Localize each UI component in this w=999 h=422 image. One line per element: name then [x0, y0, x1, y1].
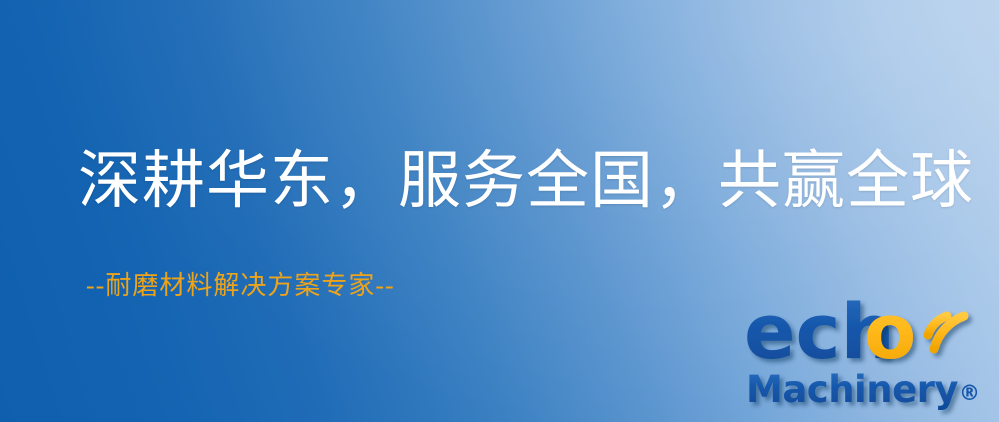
- logo-tagline: Machinery: [746, 368, 958, 411]
- logo-accent-o: o: [864, 292, 916, 376]
- registered-trademark-icon: ®: [959, 381, 980, 405]
- logo-tagline-text: Machinery: [746, 368, 958, 411]
- echo-machinery-logo[interactable]: ech o Machinery ®: [744, 292, 996, 418]
- registered-trademark-text: ®: [959, 381, 980, 405]
- page-subtitle: --耐磨材料解决方案专家--: [86, 265, 395, 302]
- signal-waves-icon: [928, 316, 964, 349]
- hero-banner: 深耕华东，服务全国，共赢全球 --耐磨材料解决方案专家--: [0, 0, 999, 422]
- page-title: 深耕华东，服务全国，共赢全球: [78, 148, 974, 214]
- logo-accent-o-text: o: [864, 292, 916, 376]
